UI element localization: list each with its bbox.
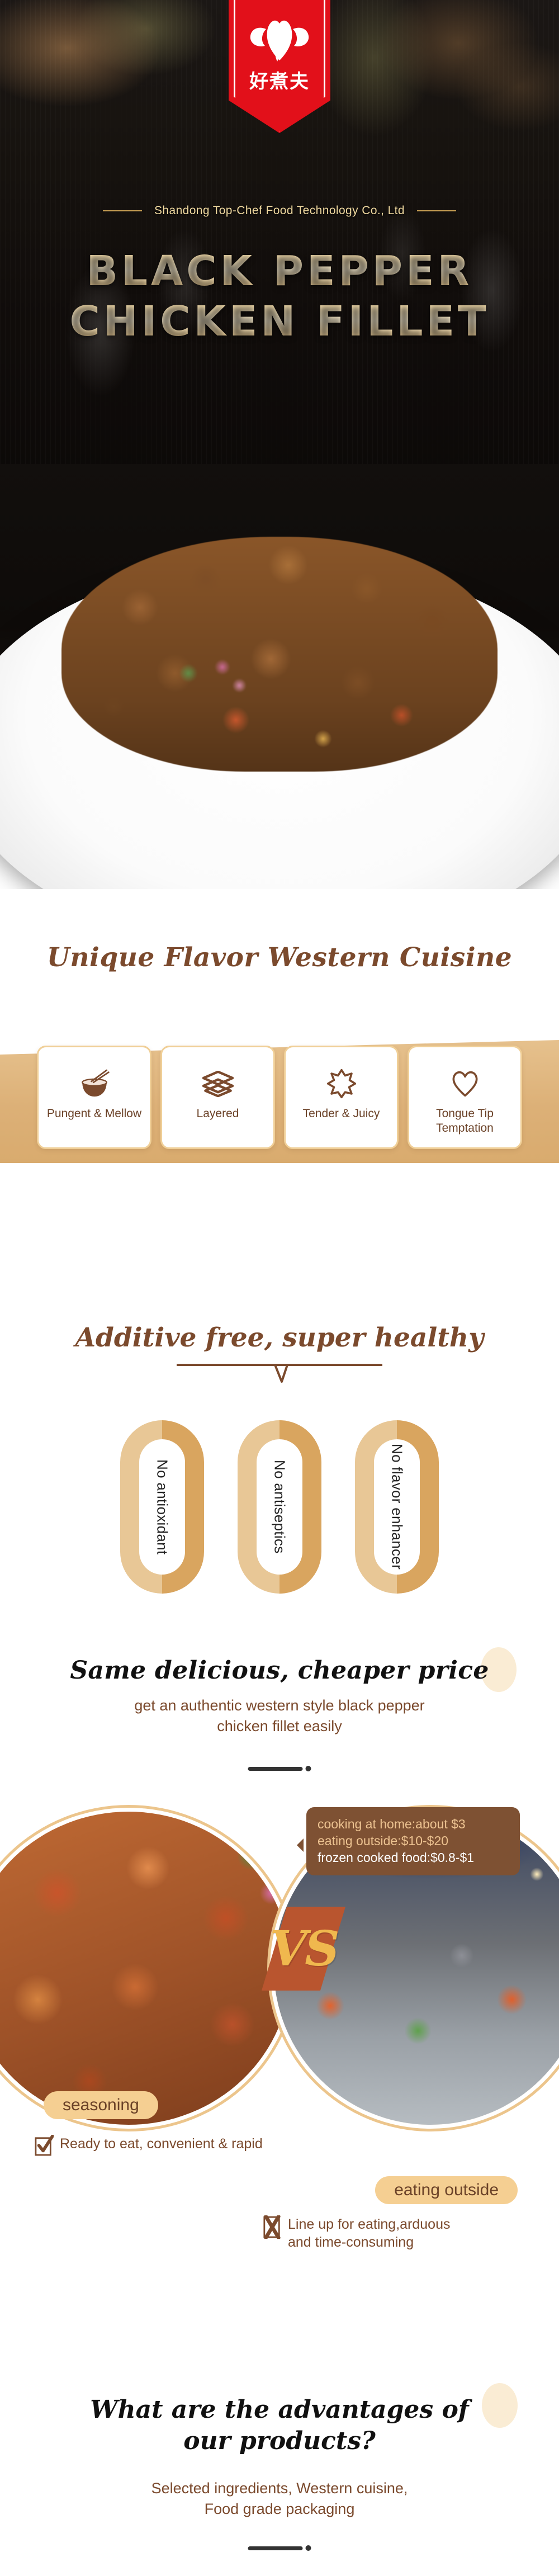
- tag-eating-outside: eating outside: [375, 2176, 518, 2204]
- cross-box-icon: [263, 2215, 282, 2239]
- tooltip-line-home: cooking at home:about $3: [318, 1816, 509, 1833]
- logo-chinese-name: 好煮夫: [229, 66, 330, 93]
- feature-card-pungent-mellow[interactable]: Pungent & Mellow: [37, 1046, 151, 1149]
- splash-star-icon: [326, 1066, 357, 1101]
- feature-card-label: Pungent & Mellow: [47, 1107, 141, 1121]
- company-name-row: Shandong Top-Chef Food Technology Co., L…: [0, 204, 559, 218]
- hero-section: 好煮夫 Shandong Top-Chef Food Technology Co…: [0, 0, 559, 481]
- layers-icon: [202, 1066, 234, 1101]
- additive-heading: Additive free, super healthy: [0, 1322, 559, 1353]
- dash-left-icon: [103, 210, 142, 211]
- feature-card-label: Layered: [197, 1107, 239, 1121]
- vs-label: VS: [262, 1907, 345, 1991]
- advantages-heading: What are the advantages of our products?: [0, 2394, 559, 2457]
- heart-flame-logo-icon: [229, 9, 330, 63]
- company-name: Shandong Top-Chef Food Technology Co., L…: [154, 204, 405, 218]
- heart-icon: [450, 1066, 480, 1101]
- dash-right-icon: [417, 210, 456, 211]
- divider-dot: [306, 1766, 311, 1771]
- feature-card-tongue-tip-temptation[interactable]: Tongue Tip Temptation: [408, 1046, 522, 1149]
- garnish: [157, 649, 263, 710]
- advantages-subtitle: Selected ingredients, Western cuisine, F…: [0, 2478, 559, 2520]
- pill-label: No antioxidant: [154, 1459, 171, 1554]
- divider-bar: [248, 1767, 303, 1771]
- disadvantage-point-line-up: Line up for eating,arduous and time-cons…: [263, 2215, 451, 2251]
- bowl-chopsticks-icon: [78, 1066, 111, 1101]
- tag-seasoning: seasoning: [44, 2091, 158, 2119]
- additive-free-section: Additive free, super healthy No antioxid…: [0, 1202, 559, 1644]
- home-cooked-food-photo: [0, 1812, 291, 2125]
- title-line-1: BLACK PEPPER: [0, 246, 559, 296]
- feature-card-label: Tongue Tip Temptation: [409, 1107, 520, 1135]
- feature-card-tender-juicy[interactable]: Tender & Juicy: [284, 1046, 399, 1149]
- flavor-heading: Unique Flavor Western Cuisine: [0, 942, 559, 973]
- price-comparison-section: Same delicious, cheaper price get an aut…: [0, 1644, 559, 2360]
- advantage-point-ready-to-eat: Ready to eat, convenient & rapid: [35, 2135, 263, 2156]
- tooltip-line-outside: eating outside:$10-$20: [318, 1833, 509, 1850]
- feature-card-layered[interactable]: Layered: [160, 1046, 275, 1149]
- section-divider: [248, 1766, 311, 1771]
- price-heading: Same delicious, cheaper price: [0, 1656, 559, 1685]
- price-subtitle: get an authentic western style black pep…: [0, 1695, 559, 1737]
- pill-label: No antiseptics: [271, 1460, 288, 1554]
- no-additive-pill-list: No antioxidant No antiseptics No flavor …: [0, 1420, 559, 1594]
- feature-card-list: Pungent & Mellow Layered Tender & Juicy: [0, 1046, 559, 1149]
- pill-no-flavor-enhancer: No flavor enhancer: [355, 1420, 439, 1594]
- price-tooltip: cooking at home:about $3 eating outside:…: [306, 1807, 520, 1875]
- pill-no-antioxidant: No antioxidant: [120, 1420, 204, 1594]
- point-label: Line up for eating,arduous and time-cons…: [288, 2215, 451, 2251]
- tooltip-line-frozen: frozen cooked food:$0.8-$1: [318, 1850, 509, 1866]
- page-title: BLACK PEPPER CHICKEN FILLET: [0, 246, 559, 347]
- section-divider: [248, 2545, 311, 2551]
- hero-dish-photo: [0, 464, 559, 889]
- black-pepper-chicken-food: [61, 537, 498, 772]
- flavor-section: Unique Flavor Western Cuisine Pungent & …: [0, 889, 559, 1202]
- vs-badge: VS: [262, 1907, 345, 1991]
- pill-label: No flavor enhancer: [389, 1444, 406, 1570]
- title-line-2: CHICKEN FILLET: [0, 296, 559, 347]
- speech-bubble-underline-icon: [176, 1362, 383, 1385]
- checkmark-box-icon: [35, 2135, 54, 2156]
- feature-card-label: Tender & Juicy: [303, 1107, 380, 1121]
- advantages-section: What are the advantages of our products?…: [0, 2360, 559, 2576]
- pill-no-antiseptics: No antiseptics: [238, 1420, 321, 1594]
- point-label: Ready to eat, convenient & rapid: [60, 2135, 263, 2153]
- divider-bar: [248, 2546, 303, 2550]
- divider-dot: [306, 2545, 311, 2551]
